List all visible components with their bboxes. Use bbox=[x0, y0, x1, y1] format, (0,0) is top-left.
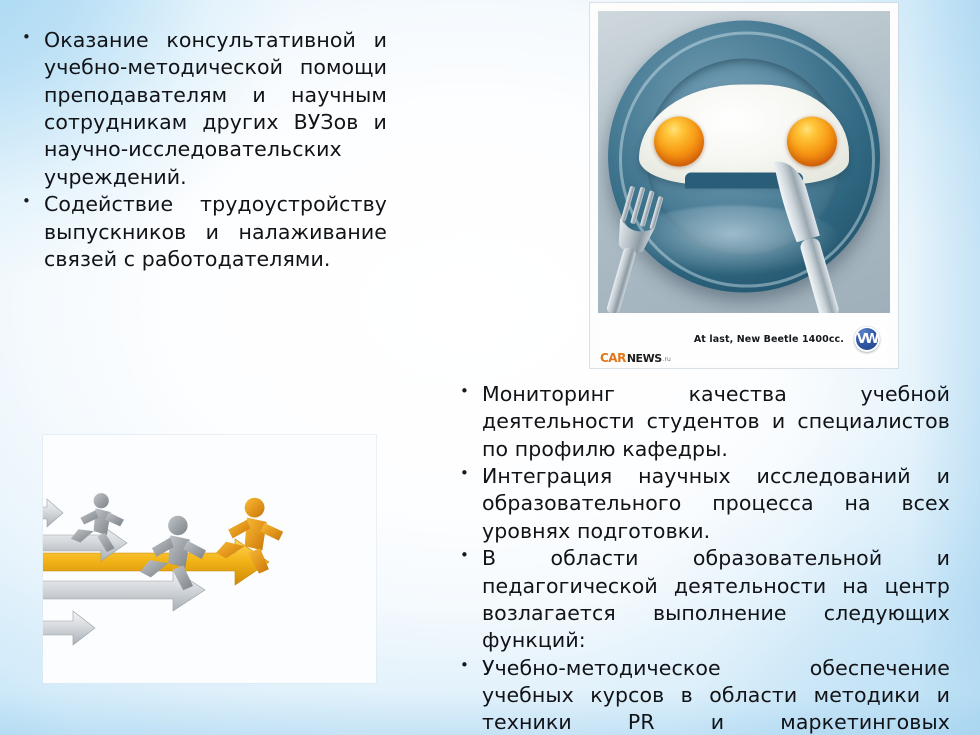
list-item: • Интеграция научных исследований и обра… bbox=[460, 463, 950, 545]
runners-illustration bbox=[43, 435, 376, 683]
advert-caption-bar: At last, New Beetle 1400cc. VW CAR NEWS … bbox=[598, 313, 890, 365]
bullet-text: В области образовательной и педагогическ… bbox=[482, 545, 950, 654]
bullet-text: Мониторинг качества учебной деятельности… bbox=[482, 381, 950, 463]
bullet-text: Содействие трудоустройству выпускников и… bbox=[44, 191, 387, 273]
bullet-text: Интеграция научных исследований и образо… bbox=[482, 463, 950, 545]
bullet-text: Учебно-методическое обеспечение учебных … bbox=[482, 655, 950, 735]
list-item: • Учебно-методическое обеспечение учебны… bbox=[460, 655, 950, 735]
arrow-shape bbox=[43, 499, 63, 527]
list-item: • Мониторинг качества учебной деятельнос… bbox=[460, 381, 950, 463]
watermark-part-one: CAR bbox=[600, 352, 626, 364]
bullet-icon: • bbox=[22, 191, 44, 211]
volkswagen-advert-image: At last, New Beetle 1400cc. VW CAR NEWS … bbox=[590, 3, 898, 368]
presentation-slide: • Оказание консультативной и учебно-мето… bbox=[0, 0, 980, 735]
bullet-icon: • bbox=[460, 545, 482, 565]
source-watermark: CAR NEWS .ru bbox=[600, 352, 671, 364]
watermark-part-three: .ru bbox=[663, 357, 671, 364]
bullet-icon: • bbox=[460, 463, 482, 483]
list-item: • В области образовательной и педагогиче… bbox=[460, 545, 950, 654]
advert-photo bbox=[598, 11, 890, 313]
list-item: • Оказание консультативной и учебно-мето… bbox=[22, 27, 387, 191]
bullet-list-top-left: • Оказание консультативной и учебно-мето… bbox=[22, 27, 387, 273]
watermark-part-two: NEWS bbox=[627, 353, 662, 364]
list-item: • Содействие трудоустройству выпускников… bbox=[22, 191, 387, 273]
bullet-icon: • bbox=[460, 655, 482, 675]
volkswagen-logo-icon: VW bbox=[854, 326, 880, 352]
running-figures-image bbox=[43, 435, 376, 683]
bullet-text: Оказание консультативной и учебно-методи… bbox=[44, 27, 387, 191]
bullet-list-bottom-right: • Мониторинг качества учебной деятельнос… bbox=[460, 381, 950, 735]
advert-tagline: At last, New Beetle 1400cc. bbox=[694, 334, 844, 345]
yolk-left-wheel bbox=[654, 117, 704, 167]
bullet-icon: • bbox=[22, 27, 44, 47]
arrow-shape bbox=[43, 611, 95, 645]
vw-logo-text: VW bbox=[854, 326, 880, 352]
bullet-icon: • bbox=[460, 381, 482, 401]
